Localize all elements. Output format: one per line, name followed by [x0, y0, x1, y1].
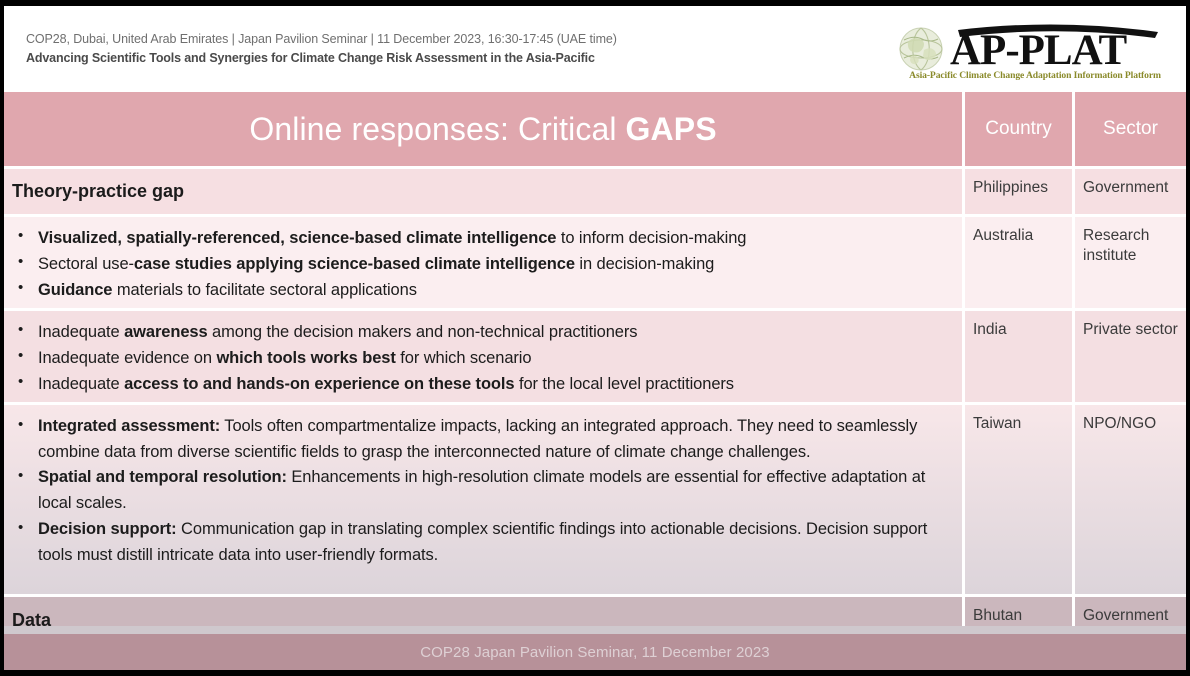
row-content-cell: Theory-practice gap — [4, 169, 962, 214]
slide-letterbox: COP28, Dubai, United Arab Emirates | Jap… — [0, 0, 1190, 676]
slide-canvas: COP28, Dubai, United Arab Emirates | Jap… — [4, 6, 1186, 670]
row-country: Philippines — [962, 169, 1072, 214]
table-header-row: Online responses: Critical GAPS Country … — [4, 92, 1186, 166]
slide-header: COP28, Dubai, United Arab Emirates | Jap… — [4, 6, 1186, 92]
bullet-rest: for which scenario — [396, 349, 532, 367]
bullet-bold: which tools works best — [216, 349, 395, 367]
bullet-bold: Visualized, spatially-referenced, scienc… — [38, 229, 556, 247]
list-item: Decision support: Communication gap in t… — [16, 517, 952, 568]
table-row: Integrated assessment: Tools often compa… — [4, 402, 1186, 594]
ap-plat-logo: AP-PLAT Asia-Pacific Climate Change Adap… — [896, 22, 1168, 86]
bullet-bold: access to and hands-on experience on the… — [124, 375, 514, 393]
bullet-bold: Decision support: — [38, 520, 177, 538]
list-item: Integrated assessment: Tools often compa… — [16, 414, 952, 465]
row-content-cell: Integrated assessment: Tools often compa… — [4, 405, 962, 594]
ap-plat-wordmark: AP-PLAT — [950, 22, 1166, 70]
bullet-list: Visualized, spatially-referenced, scienc… — [4, 217, 962, 303]
list-item: Visualized, spatially-referenced, scienc… — [16, 226, 952, 251]
bullet-bold: Guidance — [38, 281, 112, 299]
bullet-bold: awareness — [124, 323, 208, 341]
table-row: Theory-practice gap Philippines Governme… — [4, 166, 1186, 214]
row-country: Australia — [962, 217, 1072, 308]
row-content-cell: Inadequate awareness among the decision … — [4, 311, 962, 402]
column-header-country: Country — [962, 92, 1072, 166]
row-content-cell: Visualized, spatially-referenced, scienc… — [4, 217, 962, 308]
bullet-list: Integrated assessment: Tools often compa… — [4, 405, 962, 568]
table-row: Inadequate awareness among the decision … — [4, 308, 1186, 402]
responses-table: Online responses: Critical GAPS Country … — [4, 92, 1186, 648]
bullet-bold: Spatial and temporal resolution: — [38, 468, 287, 486]
row-country: India — [962, 311, 1072, 402]
table-title: Online responses: Critical GAPS — [249, 111, 716, 148]
table-title-cell: Online responses: Critical GAPS — [4, 92, 962, 166]
bullet-rest: for the local level practitioners — [514, 375, 733, 393]
bullet-bold: Integrated assessment: — [38, 417, 220, 435]
footer-divider — [4, 626, 1186, 634]
slide-footer: COP28 Japan Pavilion Seminar, 11 Decembe… — [4, 634, 1186, 670]
row-sector: Government — [1072, 169, 1186, 214]
bullet-lead: Inadequate evidence on — [38, 349, 216, 367]
footer-text: COP28 Japan Pavilion Seminar, 11 Decembe… — [420, 644, 770, 661]
list-item: Inadequate evidence on which tools works… — [16, 346, 952, 371]
list-item: Spatial and temporal resolution: Enhance… — [16, 465, 952, 516]
row-country: Taiwan — [962, 405, 1072, 594]
row-label: Theory-practice gap — [12, 181, 184, 202]
list-item: Inadequate access to and hands-on experi… — [16, 372, 952, 397]
bullet-rest: in decision-making — [575, 255, 714, 273]
table-title-plain: Online responses: Critical — [249, 111, 625, 147]
bullet-lead: Inadequate — [38, 375, 124, 393]
bullet-list: Inadequate awareness among the decision … — [4, 311, 962, 397]
globe-icon — [898, 26, 944, 72]
bullet-rest: to inform decision-making — [556, 229, 746, 247]
row-sector: Research institute — [1072, 217, 1186, 308]
bullet-rest: among the decision makers and non-techni… — [208, 323, 638, 341]
bullet-bold: case studies applying science-based clim… — [134, 255, 575, 273]
row-sector: Private sector — [1072, 311, 1186, 402]
bullet-rest: materials to facilitate sectoral applica… — [112, 281, 416, 299]
logo-tagline: Asia-Pacific Climate Change Adaptation I… — [902, 70, 1168, 81]
table-title-bold: GAPS — [626, 111, 717, 147]
event-meta-line: COP28, Dubai, United Arab Emirates | Jap… — [26, 32, 617, 46]
bullet-lead: Inadequate — [38, 323, 124, 341]
bullet-lead: Sectoral use- — [38, 255, 134, 273]
list-item: Sectoral use-case studies applying scien… — [16, 252, 952, 277]
svg-text:AP-PLAT: AP-PLAT — [950, 27, 1127, 70]
seminar-title: Advancing Scientific Tools and Synergies… — [26, 51, 595, 65]
row-sector: NPO/NGO — [1072, 405, 1186, 594]
list-item: Guidance materials to facilitate sectora… — [16, 278, 952, 303]
list-item: Inadequate awareness among the decision … — [16, 320, 952, 345]
column-header-sector: Sector — [1072, 92, 1186, 166]
table-row: Visualized, spatially-referenced, scienc… — [4, 214, 1186, 308]
